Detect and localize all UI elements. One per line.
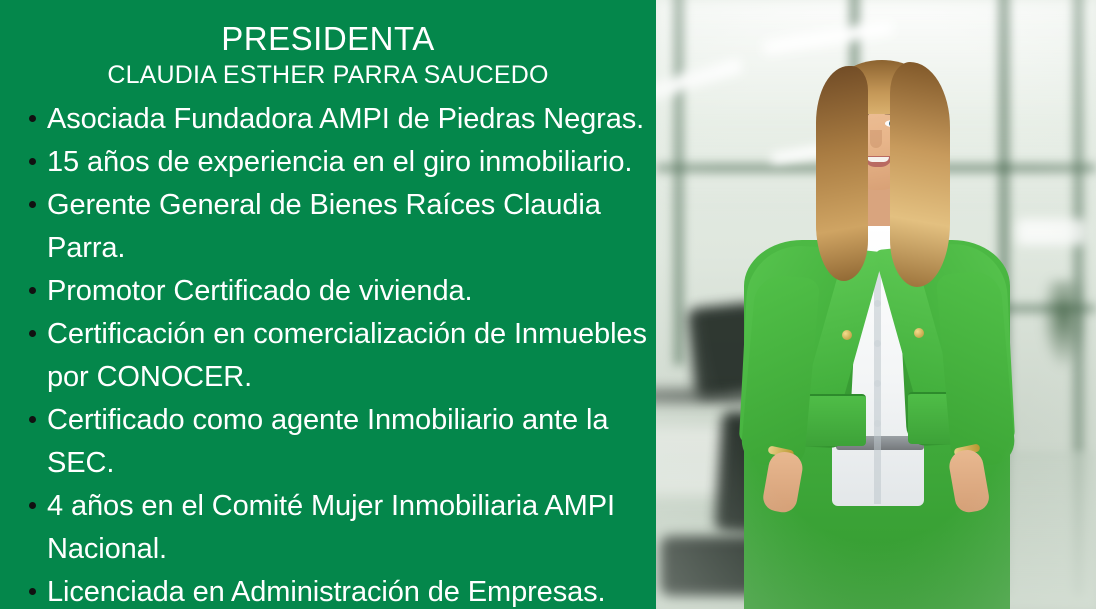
- shirt-button: [874, 420, 881, 427]
- person-figure: [656, 0, 1096, 609]
- page-title: PRESIDENTA: [0, 22, 656, 57]
- list-item: 15 años de experiencia en el giro inmobi…: [26, 141, 654, 184]
- shirt-button: [874, 380, 881, 387]
- info-panel: PRESIDENTA CLAUDIA ESTHER PARRA SAUCEDO …: [0, 0, 656, 609]
- list-item: Promotor Certificado de vivienda.: [26, 270, 654, 313]
- list-item: Asociada Fundadora AMPI de Piedras Negra…: [26, 98, 654, 141]
- blazer-pocket: [802, 394, 866, 446]
- presenter-name: CLAUDIA ESTHER PARRA SAUCEDO: [0, 61, 656, 90]
- nose: [870, 130, 882, 148]
- hair-strand: [816, 66, 868, 281]
- blazer-button: [914, 328, 924, 338]
- title-block: PRESIDENTA CLAUDIA ESTHER PARRA SAUCEDO: [0, 0, 656, 89]
- hair-strand: [890, 62, 950, 287]
- presentation-slide: PRESIDENTA CLAUDIA ESTHER PARRA SAUCEDO …: [0, 0, 1096, 609]
- presenter-photo: [656, 0, 1096, 609]
- list-item: Gerente General de Bienes Raíces Claudia…: [26, 184, 654, 270]
- list-item: 4 años en el Comité Mujer Inmobiliaria A…: [26, 485, 654, 571]
- blazer-button: [842, 330, 852, 340]
- list-item: Certificación en comercialización de Inm…: [26, 313, 654, 399]
- shirt-button: [874, 300, 881, 307]
- credentials-list: Asociada Fundadora AMPI de Piedras Negra…: [0, 98, 656, 609]
- list-item: Licenciada en Administración de Empresas…: [26, 571, 654, 609]
- list-item: Certificado como agente Inmobiliario ant…: [26, 399, 654, 485]
- shirt-button: [874, 340, 881, 347]
